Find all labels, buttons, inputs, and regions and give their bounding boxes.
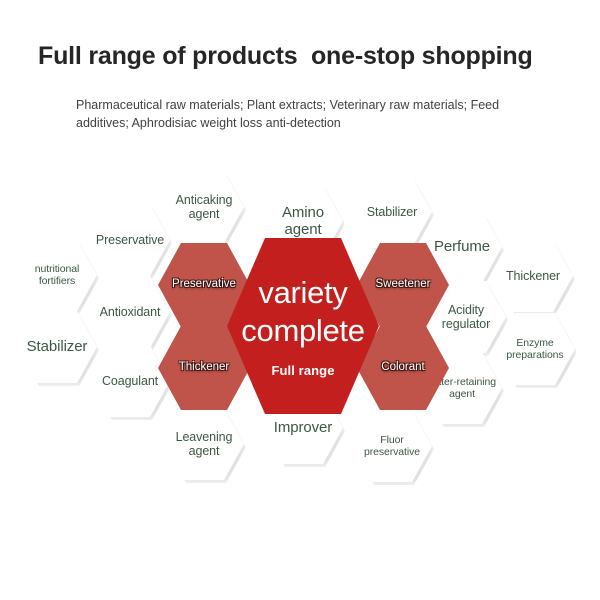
hex-label: Fluor preservative <box>352 434 432 458</box>
hex-label: Enzyme preparations <box>495 337 575 361</box>
hex-label: Colorant <box>375 361 430 374</box>
hex-label: Perfume <box>428 238 496 255</box>
core-line-2: complete <box>241 312 364 350</box>
hex-label: Acidity regulator <box>426 303 506 332</box>
hex-label: Sweetener <box>370 278 437 291</box>
hex-label: nutritional fortifiers <box>17 263 97 287</box>
diagram-page: Full range of products one-stop shopping… <box>0 0 600 600</box>
hex-label: Thickener <box>173 361 236 374</box>
hex-label: Thickener <box>500 269 566 283</box>
hex-cell-core-variety-complete[interactable]: varietycompleteFull range <box>227 238 379 414</box>
hex-label: Amino agent <box>263 204 343 239</box>
hex-label: Preservative <box>90 233 170 247</box>
honeycomb-diagram: nutritional fortifiersStabilizerPreserva… <box>0 0 600 600</box>
core-line-1: variety <box>258 274 347 312</box>
hex-label: Coagulant <box>96 374 164 388</box>
hex-label: Stabilizer <box>21 338 94 355</box>
hex-label: Antioxidant <box>94 305 167 319</box>
hex-label: Improver <box>268 419 338 436</box>
core-caption: Full range <box>271 363 334 378</box>
hex-label: Stabilizer <box>361 205 423 219</box>
hex-label: Leavening agent <box>164 430 244 459</box>
hex-label: Preservative <box>166 278 242 291</box>
hex-label: Anticaking agent <box>164 193 244 222</box>
